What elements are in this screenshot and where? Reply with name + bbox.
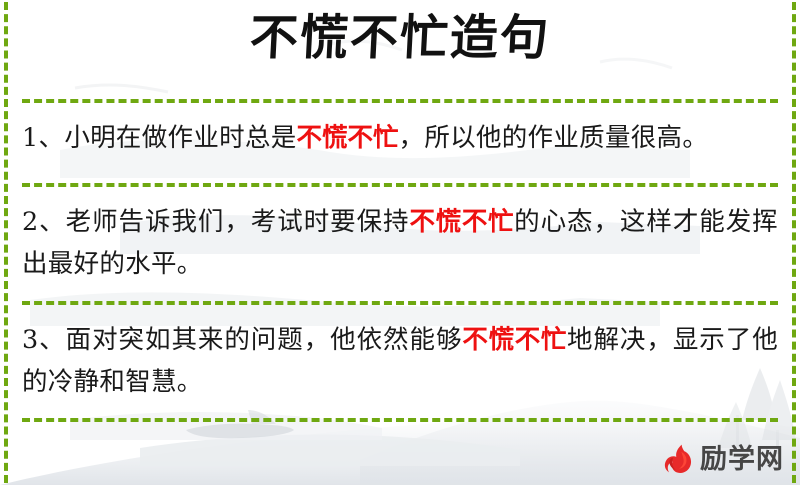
sentence-item-2: 2、老师告诉我们，考试时要保持不慌不忙的心态，这样才能发挥出最好的水平。 [22,201,778,285]
sentence-item-1: 1、小明在做作业时总是不慌不忙，所以他的作业质量很高。 [22,117,778,159]
red-swirl-flame-icon [659,441,695,477]
sentence-1-idiom-highlight: 不慌不忙 [297,123,399,153]
sentence-item-3: 3、面对突如其来的问题，他依然能够不慌不忙地解决，显示了他的冷静和智慧。 [22,319,778,403]
sentence-3-before-text: 面对突如其来的问题，他依然能够 [66,325,463,355]
sentence-3-idiom-highlight: 不慌不忙 [462,325,567,355]
sentence-2-number: 2、 [22,207,66,237]
watermark-text: 励学网 [700,446,784,473]
page-root: 不慌不忙造句 1、小明在做作业时总是不慌不忙，所以他的作业质量很高。 2、老师告… [0,0,800,485]
sentence-list: 1、小明在做作业时总是不慌不忙，所以他的作业质量很高。 2、老师告诉我们，考试时… [0,0,800,485]
sentence-1-number: 1、 [22,123,64,153]
site-watermark: 励学网 [659,441,784,477]
sentence-1-after-text: ，所以他的作业质量很高。 [399,123,709,153]
sentence-3-number: 3、 [22,325,66,355]
sentence-2-before-text: 老师告诉我们，考试时要保持 [66,207,410,237]
sentence-1-before-text: 小明在做作业时总是 [64,123,296,153]
sentence-2-idiom-highlight: 不慌不忙 [410,207,515,237]
